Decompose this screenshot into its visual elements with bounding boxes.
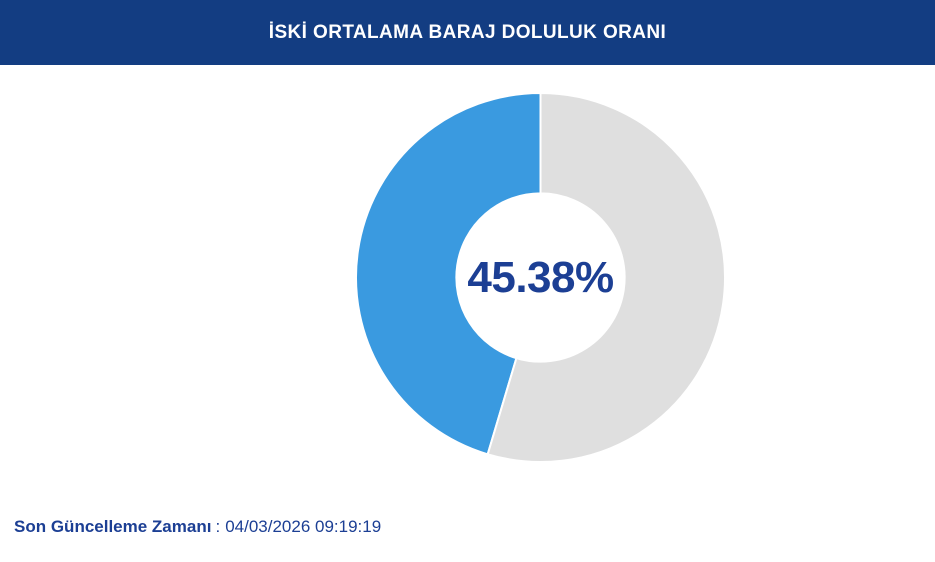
donut-chart-svg: [356, 93, 725, 462]
last-update-row: Son Güncelleme Zamanı : 04/03/2026 09:19…: [14, 518, 381, 535]
last-update-value: 04/03/2026 09:19:19: [225, 518, 381, 535]
last-update-label: Son Güncelleme Zamanı: [14, 518, 211, 535]
last-update-separator: :: [211, 518, 225, 535]
chart-area: 45.38%: [0, 65, 935, 495]
donut-chart: 45.38%: [356, 93, 725, 462]
header-bar: İSKİ ORTALAMA BARAJ DOLULUK ORANI: [0, 0, 935, 65]
page-title: İSKİ ORTALAMA BARAJ DOLULUK ORANI: [269, 23, 666, 42]
page-root: İSKİ ORTALAMA BARAJ DOLULUK ORANI 45.38%…: [0, 0, 935, 562]
